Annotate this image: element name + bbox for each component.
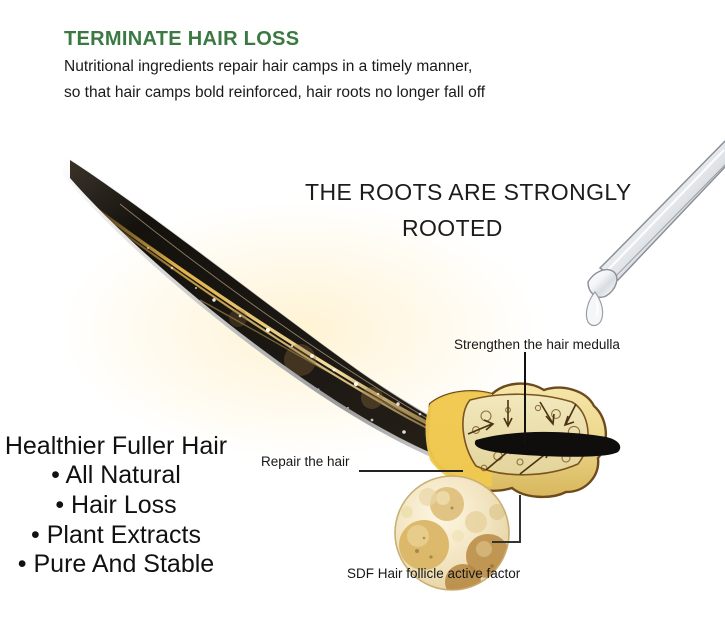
benefit-item-plant-extracts: • Plant Extracts bbox=[0, 523, 240, 549]
subtitle-line-2: so that hair camps bold reinforced, hair… bbox=[64, 84, 485, 102]
callout-label-sdf: SDF Hair follicle active factor bbox=[347, 566, 520, 581]
benefit-item-pure-and-stable: • Pure And Stable bbox=[0, 552, 240, 578]
hair-follicle-cross-section bbox=[426, 384, 621, 497]
benefit-item-hair-loss: • Hair Loss bbox=[0, 493, 240, 519]
serum-droplet bbox=[586, 292, 602, 325]
callout-label-medulla: Strengthen the hair medulla bbox=[454, 337, 620, 352]
main-title-line-1: THE ROOTS ARE STRONGLY bbox=[305, 179, 632, 206]
leader-line-medulla bbox=[524, 352, 526, 444]
benefit-item-all-natural: • All Natural bbox=[0, 463, 240, 489]
medulla-core bbox=[475, 432, 620, 457]
leader-line-sdf-horizontal bbox=[492, 541, 521, 543]
main-title-line-2: ROOTED bbox=[402, 215, 503, 242]
callout-label-repair: Repair the hair bbox=[261, 454, 350, 469]
poster-canvas: TERMINATE HAIR LOSS Nutritional ingredie… bbox=[0, 0, 725, 628]
leader-line-repair bbox=[359, 470, 463, 472]
glass-dropper-pipette bbox=[586, 140, 725, 325]
benefits-list: Healthier Fuller Hair • All Natural • Ha… bbox=[0, 434, 240, 578]
subtitle-line-1: Nutritional ingredients repair hair camp… bbox=[64, 58, 472, 76]
leader-line-sdf-vertical bbox=[519, 495, 521, 543]
benefits-heading: Healthier Fuller Hair bbox=[0, 434, 240, 459]
page-title: TERMINATE HAIR LOSS bbox=[64, 28, 299, 51]
oil-bubble-magnifier bbox=[395, 476, 510, 600]
